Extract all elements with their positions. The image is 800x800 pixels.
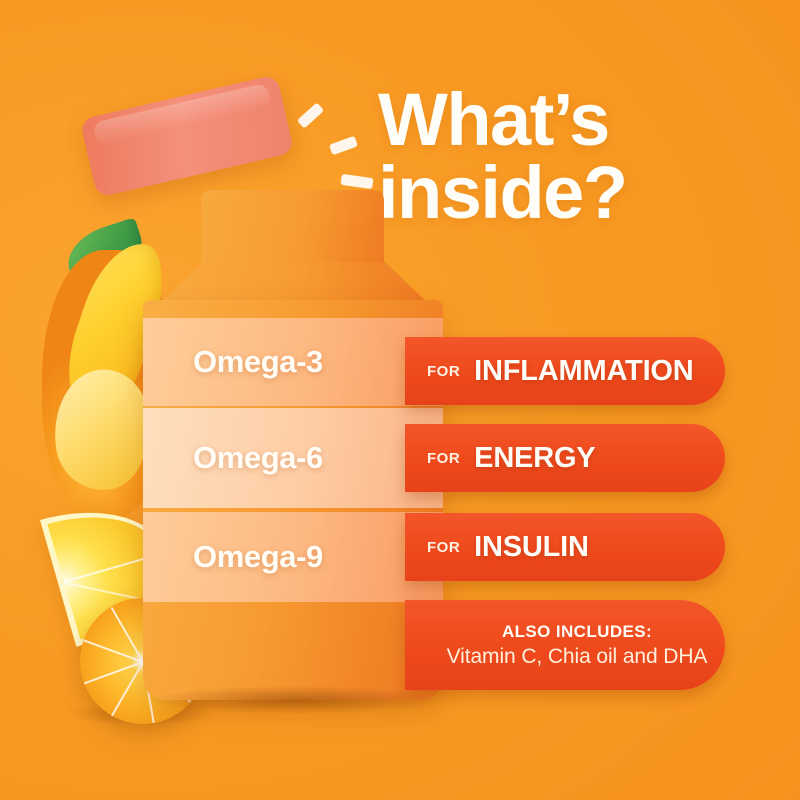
also-includes-title: ALSO INCLUDES: bbox=[478, 622, 652, 642]
ingredient-name: Omega-6 bbox=[143, 440, 323, 476]
label-band-omega-9: Omega-9 bbox=[143, 512, 443, 602]
infographic-canvas: What’s inside? Omega-3 Omega-6 Omega-9 F… bbox=[0, 0, 800, 800]
label-band-omega-6: Omega-6 bbox=[143, 408, 443, 508]
for-label: FOR bbox=[405, 363, 474, 380]
bottle-cap-graphic bbox=[80, 74, 295, 197]
ingredient-name: Omega-3 bbox=[143, 344, 323, 380]
page-title: What’s inside? bbox=[378, 84, 778, 229]
benefit-label: INSULIN bbox=[474, 531, 589, 564]
sparkle-dash-icon bbox=[340, 174, 373, 189]
sparkle-dash-icon bbox=[297, 102, 324, 128]
for-label: FOR bbox=[405, 539, 474, 556]
label-band-omega-3: Omega-3 bbox=[143, 318, 443, 406]
also-includes-body: Vitamin C, Chia oil and DHA bbox=[423, 645, 708, 669]
benefit-label: ENERGY bbox=[474, 442, 595, 475]
headline-line-1: What’s bbox=[378, 78, 609, 161]
benefit-pill-inflammation: FOR INFLAMMATION bbox=[405, 337, 725, 405]
bottle-base-shadow bbox=[152, 686, 438, 714]
benefit-pill-energy: FOR ENERGY bbox=[405, 424, 725, 492]
also-includes-pill: ALSO INCLUDES: Vitamin C, Chia oil and D… bbox=[405, 600, 725, 690]
headline-line-2: inside? bbox=[378, 157, 778, 230]
for-label: FOR bbox=[405, 450, 474, 467]
benefit-label: INFLAMMATION bbox=[474, 355, 693, 388]
sparkle-dash-icon bbox=[329, 136, 358, 156]
ingredient-name: Omega-9 bbox=[143, 539, 323, 575]
benefit-pill-insulin: FOR INSULIN bbox=[405, 513, 725, 581]
